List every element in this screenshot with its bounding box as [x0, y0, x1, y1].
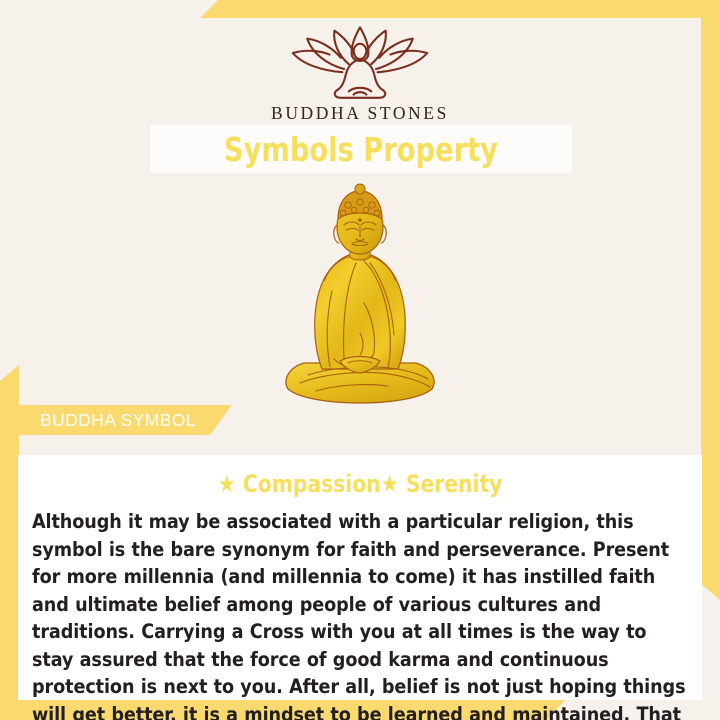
poster-header: BUDDHA STONES Symbols Property [0, 0, 720, 185]
lotus-meditation-icon [280, 22, 440, 100]
brand-block: BUDDHA STONES [0, 22, 720, 124]
seated-golden-buddha-statue-icon [260, 183, 460, 415]
poster-canvas: BUDDHA STONES Symbols Property [0, 0, 720, 720]
hero-image-area [0, 180, 720, 415]
content-headline: ★ Compassion★ Serenity [52, 470, 669, 498]
decorative-band-left [0, 365, 19, 702]
content-card: ★ Compassion★ Serenity Although it may b… [18, 455, 702, 700]
brand-name: BUDDHA STONES [271, 103, 449, 124]
page-title: Symbols Property [224, 130, 498, 169]
title-banner: Symbols Property [150, 125, 572, 173]
category-ribbon: BUDDHA SYMBOL [18, 405, 232, 435]
content-paragraph: Although it may be associated with a par… [32, 508, 688, 720]
category-ribbon-label: BUDDHA SYMBOL [40, 410, 196, 431]
